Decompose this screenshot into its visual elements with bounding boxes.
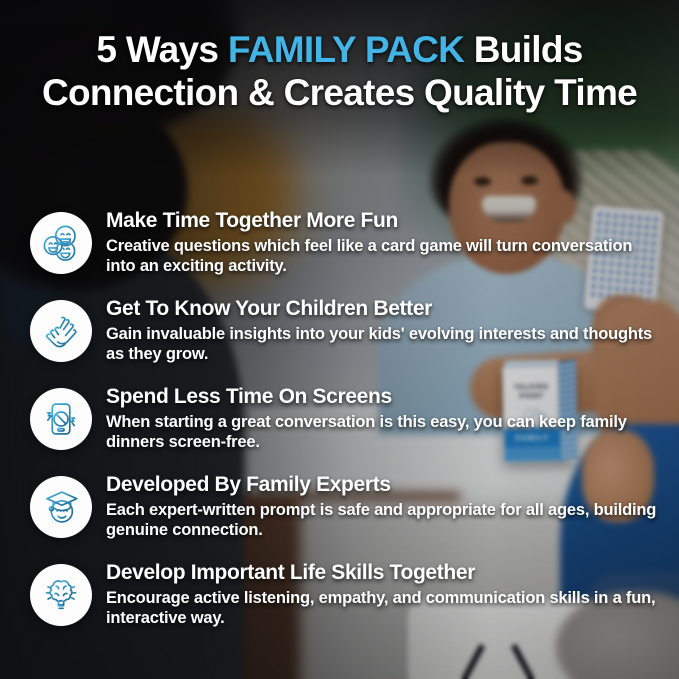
feature-title: Get To Know Your Children Better: [106, 296, 665, 322]
feature-description: When starting a great conversation is th…: [106, 412, 665, 452]
headline-pre: 5 Ways: [96, 29, 228, 70]
list-item: Develop Important Life Skills Together E…: [24, 558, 665, 636]
promo-image: TALKING POINT FAMILY 5 Ways FAMILY PACK …: [0, 0, 679, 679]
feature-text: Get To Know Your Children Better Gain in…: [106, 294, 665, 364]
graduate-face-icon: [30, 476, 92, 538]
feature-text: Developed By Family Experts Each expert-…: [106, 470, 665, 540]
feature-list: Make Time Together More Fun Creative que…: [24, 206, 665, 646]
list-item: Developed By Family Experts Each expert-…: [24, 470, 665, 548]
feature-title: Developed By Family Experts: [106, 472, 665, 498]
smiley-faces-icon: [30, 212, 92, 274]
feature-text: Spend Less Time On Screens When starting…: [106, 382, 665, 452]
list-item: Get To Know Your Children Better Gain in…: [24, 294, 665, 372]
overlay-content: 5 Ways FAMILY PACK Builds Connection & C…: [0, 0, 679, 679]
feature-description: Each expert-written prompt is safe and a…: [106, 500, 665, 540]
brain-lightbulb-icon: [30, 564, 92, 626]
feature-description: Encourage active listening, empathy, and…: [106, 588, 665, 628]
headline-line2: Connection & Creates Quality Time: [42, 72, 637, 113]
feature-title: Make Time Together More Fun: [106, 208, 665, 234]
feature-description: Gain invaluable insights into your kids'…: [106, 324, 665, 364]
feature-text: Make Time Together More Fun Creative que…: [106, 206, 665, 276]
headline-accent: FAMILY PACK: [228, 29, 464, 70]
feature-text: Develop Important Life Skills Together E…: [106, 558, 665, 628]
feature-description: Creative questions which feel like a car…: [106, 236, 665, 276]
page-title: 5 Ways FAMILY PACK Builds Connection & C…: [0, 28, 679, 114]
headline-post: Builds: [464, 29, 582, 70]
no-phone-icon: [30, 388, 92, 450]
feature-title: Spend Less Time On Screens: [106, 384, 665, 410]
list-item: Spend Less Time On Screens When starting…: [24, 382, 665, 460]
feature-title: Develop Important Life Skills Together: [106, 560, 665, 586]
stacked-hands-icon: [30, 300, 92, 362]
list-item: Make Time Together More Fun Creative que…: [24, 206, 665, 284]
